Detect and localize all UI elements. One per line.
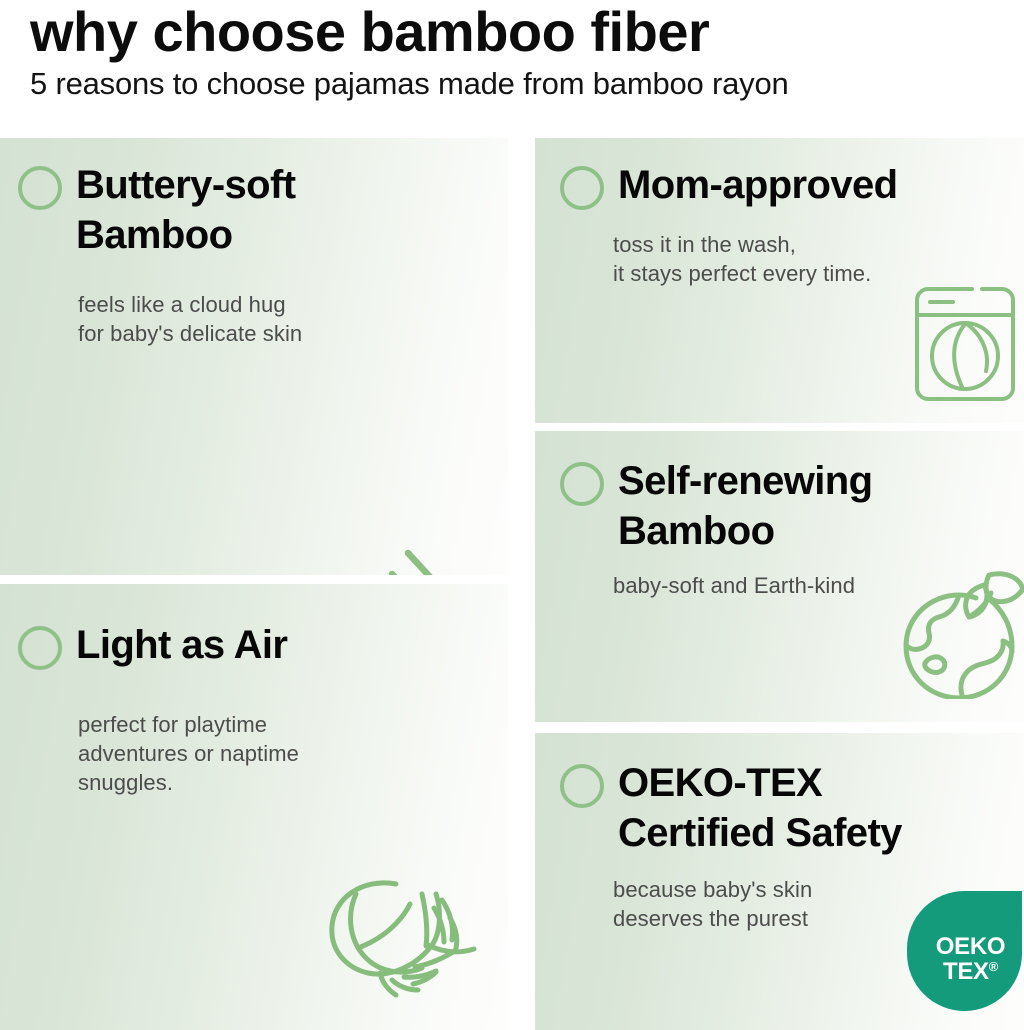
card-title: OEKO-TEX Certified Safety xyxy=(618,758,902,858)
page-subtitle: 5 reasons to choose pajamas made from ba… xyxy=(30,64,1024,104)
registered-trademark-icon: ® xyxy=(989,960,998,973)
feather-icon xyxy=(318,872,508,1022)
hand-touch-icon xyxy=(330,536,505,575)
card-body-text: toss it in the wash, it stays perfect ev… xyxy=(613,230,871,288)
card-title: Self-renewing Bamboo xyxy=(618,456,872,556)
infographic-page: why choose bamboo fiber 5 reasons to cho… xyxy=(0,0,1024,1030)
card-title-row: Buttery-soft Bamboo xyxy=(18,160,295,260)
oeko-badge-line2: TEX xyxy=(943,959,989,984)
oeko-badge-line2-row: TEX ® xyxy=(943,959,998,984)
washing-machine-icon xyxy=(910,283,1020,405)
card-title-row: OEKO-TEX Certified Safety xyxy=(560,758,902,858)
oeko-tex-droplet: OEKO TEX ® xyxy=(907,891,1022,1011)
page-header: why choose bamboo fiber 5 reasons to cho… xyxy=(0,0,1024,135)
card-title: Buttery-soft Bamboo xyxy=(76,160,295,260)
circle-outline-icon xyxy=(560,462,604,506)
card-body-text: feels like a cloud hug for baby's delica… xyxy=(78,290,302,348)
circle-outline-icon xyxy=(560,764,604,808)
oeko-tex-badge: OEKO TEX ® xyxy=(907,891,1022,1011)
globe-leaf-icon xyxy=(903,569,1024,699)
card-body-text: baby-soft and Earth-kind xyxy=(613,571,855,600)
card-title-row: Self-renewing Bamboo xyxy=(560,456,872,556)
circle-outline-icon xyxy=(18,166,62,210)
circle-outline-icon xyxy=(560,166,604,210)
card-title: Mom-approved xyxy=(618,160,897,210)
card-title: Light as Air xyxy=(76,620,287,670)
page-title: why choose bamboo fiber xyxy=(30,2,1024,62)
card-buttery-soft-bamboo: Buttery-soft Bamboo feels like a cloud h… xyxy=(0,138,508,575)
oeko-badge-line1: OEKO xyxy=(936,934,1005,959)
circle-outline-icon xyxy=(18,626,62,670)
card-light-as-air: Light as Air perfect for playtime advent… xyxy=(0,584,508,1030)
card-title-row: Light as Air xyxy=(18,620,287,670)
card-self-renewing-bamboo: Self-renewing Bamboo baby-soft and Earth… xyxy=(535,431,1024,722)
card-body-text: perfect for playtime adventures or napti… xyxy=(78,710,299,797)
card-oeko-tex-certified-safety: OEKO-TEX Certified Safety because baby's… xyxy=(535,733,1024,1030)
card-mom-approved: Mom-approved toss it in the wash, it sta… xyxy=(535,138,1024,423)
card-title-row: Mom-approved xyxy=(560,160,897,210)
card-body-text: because baby's skin deserves the purest xyxy=(613,875,812,933)
